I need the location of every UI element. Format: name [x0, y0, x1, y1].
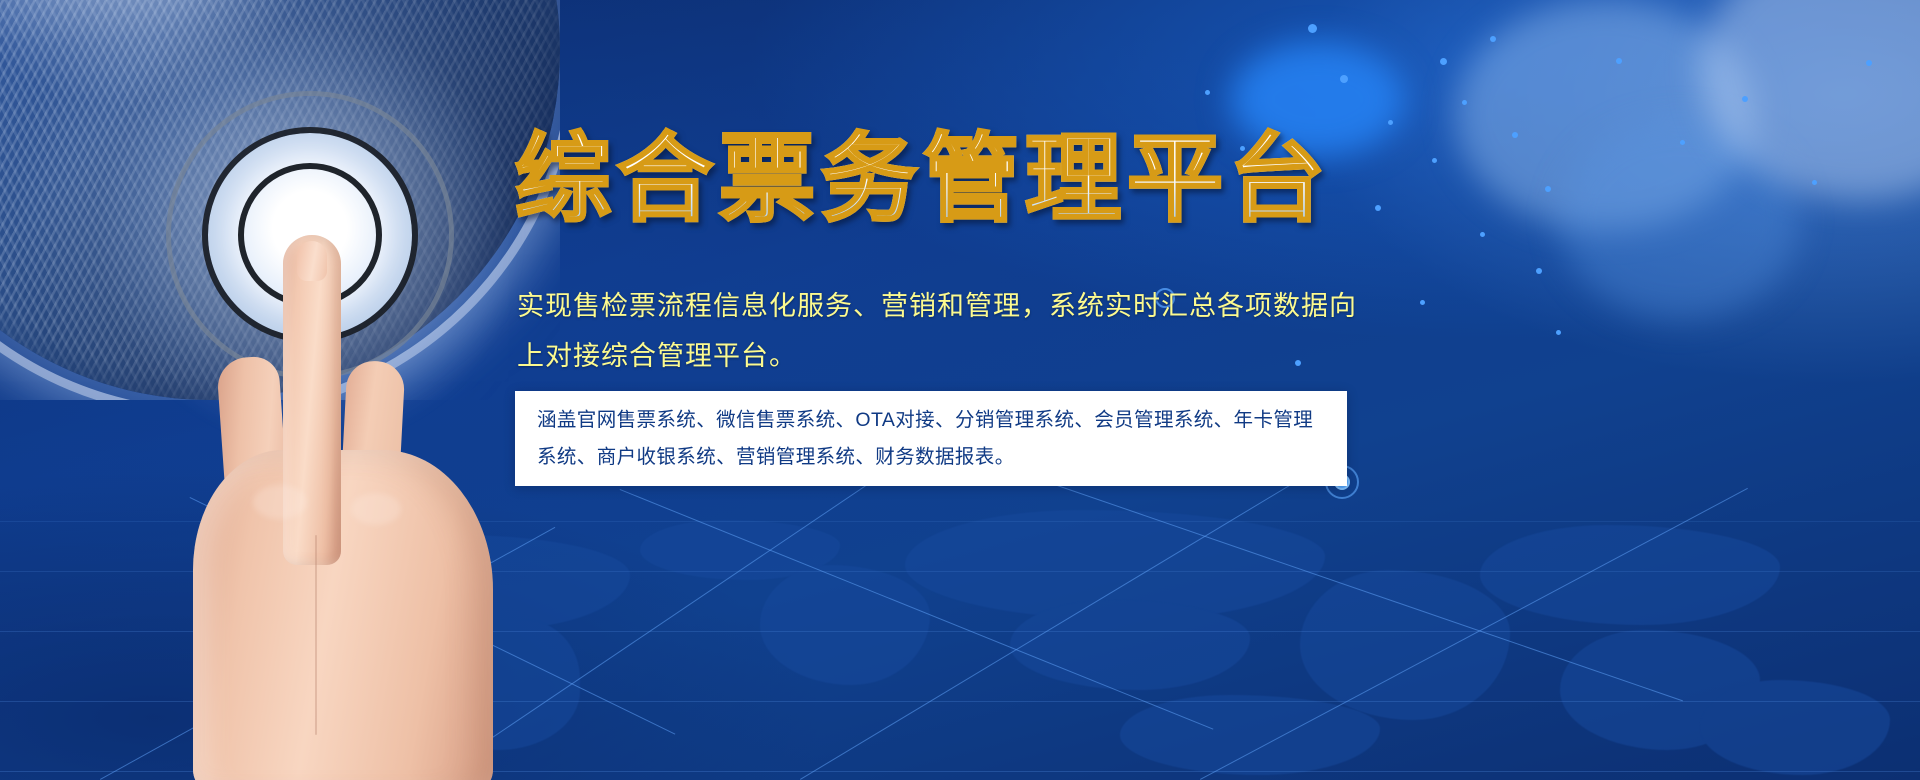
particle-dot — [1545, 186, 1551, 192]
particle-dot — [1742, 96, 1748, 102]
particle-dot — [1812, 180, 1817, 185]
feature-callout-panel: 涵盖官网售票系统、微信售票系统、OTA对接、分销管理系统、会员管理系统、年卡管理… — [515, 391, 1347, 486]
hand-palm — [193, 450, 493, 780]
hand-crease-line — [315, 535, 317, 735]
page-title: 综合票务管理平台 — [515, 130, 1395, 231]
hand-knuckle-highlight — [351, 493, 401, 525]
feature-callout-text: 涵盖官网售票系统、微信售票系统、OTA对接、分销管理系统、会员管理系统、年卡管理… — [515, 402, 1347, 474]
banner-content: 综合票务管理平台 实现售检票流程信息化服务、营销和管理，系统实时汇总各项数据向上… — [515, 0, 1515, 780]
banner-subtitle: 实现售检票流程信息化服务、营销和管理，系统实时汇总各项数据向上对接综合管理平台。 — [517, 282, 1377, 382]
hand-fingernail — [297, 241, 327, 281]
particle-dot — [1616, 58, 1622, 64]
particle-dot — [1680, 140, 1685, 145]
particle-dot — [1556, 330, 1561, 335]
hero-banner: 综合票务管理平台 实现售检票流程信息化服务、营销和管理，系统实时汇总各项数据向上… — [0, 0, 1920, 780]
particle-dot — [1866, 60, 1872, 66]
particle-dot — [1536, 268, 1542, 274]
hand-knuckle-highlight — [253, 485, 307, 519]
